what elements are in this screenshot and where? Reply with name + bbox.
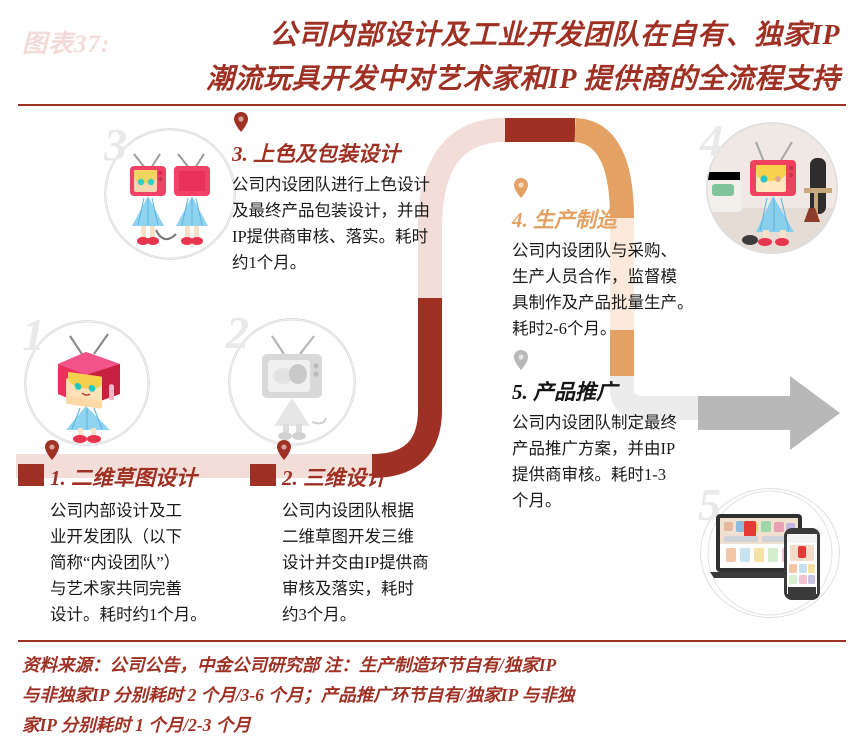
step-4-body-line-1: 公司内设团队与采购、 [512, 238, 762, 264]
step-3-body: 公司内设团队进行上色设计 及最终产品包装设计，并由 IP提供商审核、落实。耗时 … [232, 172, 504, 276]
step-2-square-marker [250, 464, 276, 486]
step-3-title: 3. 上色及包装设计 [232, 138, 504, 168]
source-note: 资料来源：公司公告，中金公司研究部 注：生产制造环节自有/独家IP 与非独家IP… [22, 650, 842, 740]
pin-icon-step-1 [45, 440, 59, 460]
step-5-body-line-3: 提供商审核。耗时1-3 [512, 462, 762, 488]
step-5-title: 5. 产品推广 [512, 376, 762, 406]
source-note-line-2: 与非独家IP 分别耗时 2 个月/3-6 个月；产品推广环节自有/独家IP 与非… [22, 680, 842, 710]
step-1: 1. 二维草图设计 公司内部设计及工 业开发团队（以下 简称“内设团队”） 与艺… [50, 462, 282, 628]
photo-5-watermark: 5 [698, 482, 721, 528]
figure-canvas: 图表37: 公司内部设计及工业开发团队在自有、独家IP 潮流玩具开发中对艺术家和… [0, 0, 864, 756]
photo-2-watermark: 2 [226, 310, 249, 356]
step-2-body-line-5: 约3个月。 [282, 602, 518, 628]
photo-1-watermark: 1 [22, 312, 45, 358]
step-4-body-line-2: 生产人员合作，监督模 [512, 264, 762, 290]
source-note-line-3: 家IP 分别耗时 1 个月/2-3 个月 [22, 710, 842, 740]
step-2-body-line-1: 公司内设团队根据 [282, 498, 518, 524]
step-1-body-line-2: 业开发团队（以下 [50, 524, 282, 550]
step-4-body-line-4: 耗时2-6个月。 [512, 316, 762, 342]
pin-icon-step-2 [277, 440, 291, 460]
step-3-body-line-4: 约1个月。 [232, 250, 504, 276]
step-2: 2. 三维设计 公司内设团队根据 二维草图开发三维 设计并交由IP提供商 审核及… [282, 462, 518, 628]
pin-icon-step-3 [234, 112, 248, 132]
step-2-body-line-2: 二维草图开发三维 [282, 524, 518, 550]
page-title-line-1: 公司内部设计及工业开发团队在自有、独家IP [269, 20, 840, 51]
step-2-body-line-3: 设计并交由IP提供商 [282, 550, 518, 576]
step-3-body-line-3: IP提供商审核、落实。耗时 [232, 224, 504, 250]
page-title: 公司内部设计及工业开发团队在自有、独家IP 潮流玩具开发中对艺术家和IP 提供商… [0, 14, 840, 102]
step-3-body-line-1: 公司内设团队进行上色设计 [232, 172, 504, 198]
step-1-title: 1. 二维草图设计 [50, 462, 282, 492]
step-1-body: 公司内部设计及工 业开发团队（以下 简称“内设团队”） 与艺术家共同完善 设计。… [50, 498, 282, 628]
pin-icon-step-5 [514, 350, 528, 370]
pin-icon-step-4 [514, 178, 528, 198]
flow-seg-corner-1 [372, 410, 430, 466]
step-4-body-line-3: 具制作及产品批量生产。 [512, 290, 762, 316]
step-1-body-line-5: 设计。耗时约1个月。 [50, 602, 282, 628]
header-divider [18, 104, 846, 106]
step-2-body-line-4: 审核及落实，耗时 [282, 576, 518, 602]
figure-header: 图表37: 公司内部设计及工业开发团队在自有、独家IP 潮流玩具开发中对艺术家和… [0, 0, 864, 108]
step-4-body: 公司内设团队与采购、 生产人员合作，监督模 具制作及产品批量生产。 耗时2-6个… [512, 238, 762, 342]
photo-3-watermark: 3 [104, 122, 127, 168]
step-3: 3. 上色及包装设计 公司内设团队进行上色设计 及最终产品包装设计，并由 IP提… [232, 138, 504, 276]
step-1-body-line-4: 与艺术家共同完善 [50, 576, 282, 602]
page-title-line-2: 潮流玩具开发中对艺术家和IP 提供商的全流程支持 [0, 58, 840, 102]
step-5-body: 公司内设团队制定最终 产品推广方案，并由IP 提供商审核。耗时1-3 个月。 [512, 410, 762, 514]
step-4: 4. 生产制造 公司内设团队与采购、 生产人员合作，监督模 具制作及产品批量生产… [512, 204, 762, 342]
step-2-title: 2. 三维设计 [282, 462, 518, 492]
step-2-body: 公司内设团队根据 二维草图开发三维 设计并交由IP提供商 审核及落实，耗时 约3… [282, 498, 518, 628]
step-5-body-line-2: 产品推广方案，并由IP [512, 436, 762, 462]
photo-4-watermark: 4 [700, 118, 723, 164]
step-1-body-line-1: 公司内部设计及工 [50, 498, 282, 524]
source-note-line-1: 资料来源：公司公告，中金公司研究部 注：生产制造环节自有/独家IP [22, 650, 842, 680]
footer-divider [18, 640, 846, 642]
step-1-body-line-3: 简称“内设团队”） [50, 550, 282, 576]
step-5: 5. 产品推广 公司内设团队制定最终 产品推广方案，并由IP 提供商审核。耗时1… [512, 376, 762, 514]
step-5-body-line-4: 个月。 [512, 488, 762, 514]
step-1-square-marker [18, 464, 44, 486]
step-5-body-line-1: 公司内设团队制定最终 [512, 410, 762, 436]
step-3-body-line-2: 及最终产品包装设计，并由 [232, 198, 504, 224]
step-4-title: 4. 生产制造 [512, 204, 762, 234]
